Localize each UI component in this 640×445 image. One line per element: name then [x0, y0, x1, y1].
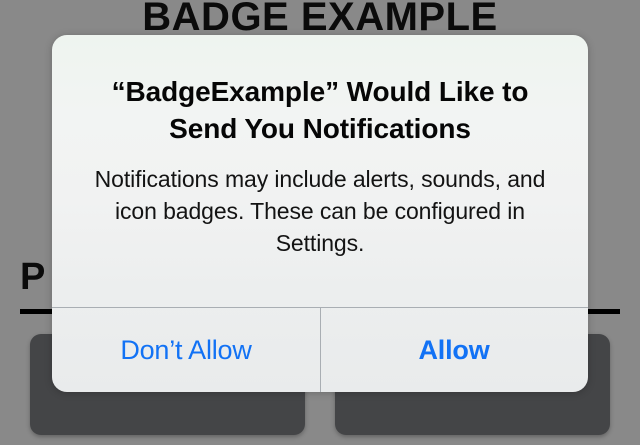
- alert-message: Notifications may include alerts, sounds…: [78, 163, 562, 259]
- screen: BADGE EXAMPLE P CHECK GRANT “BadgeExampl…: [0, 0, 640, 445]
- page-title: BADGE EXAMPLE: [0, 0, 640, 40]
- section-heading: P: [20, 255, 46, 299]
- dont-allow-button[interactable]: Don’t Allow: [52, 308, 320, 392]
- alert-body: “BadgeExample” Would Like to Send You No…: [52, 35, 588, 307]
- alert-title: “BadgeExample” Would Like to Send You No…: [78, 73, 562, 147]
- allow-button[interactable]: Allow: [320, 308, 588, 392]
- alert-vertical-divider: [320, 308, 321, 392]
- notification-permission-alert: “BadgeExample” Would Like to Send You No…: [52, 35, 588, 392]
